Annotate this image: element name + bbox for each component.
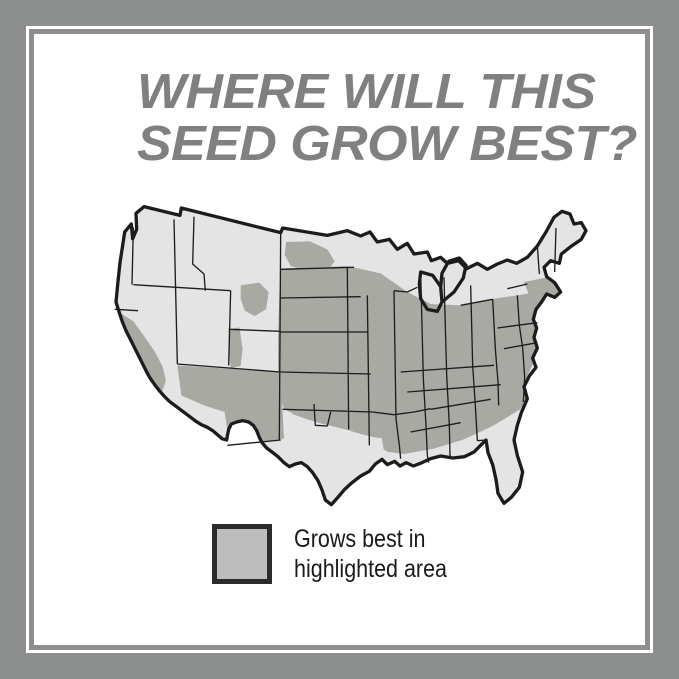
legend-label: Grows best in highlighted area bbox=[294, 524, 447, 584]
united-states-map bbox=[94, 192, 594, 512]
poster-root: WHERE WILL THIS SEED GROW BEST? bbox=[0, 0, 679, 679]
us-map-svg bbox=[94, 192, 594, 512]
map-legend: Grows best in highlighted area bbox=[212, 524, 472, 584]
legend-line-1: Grows best in bbox=[294, 524, 447, 554]
page-title: WHERE WILL THIS SEED GROW BEST? bbox=[137, 66, 593, 170]
title-line-2: SEED GROW BEST? bbox=[137, 118, 593, 170]
title-line-1: WHERE WILL THIS bbox=[137, 66, 593, 118]
legend-line-2: highlighted area bbox=[294, 554, 447, 584]
legend-swatch bbox=[212, 524, 272, 584]
